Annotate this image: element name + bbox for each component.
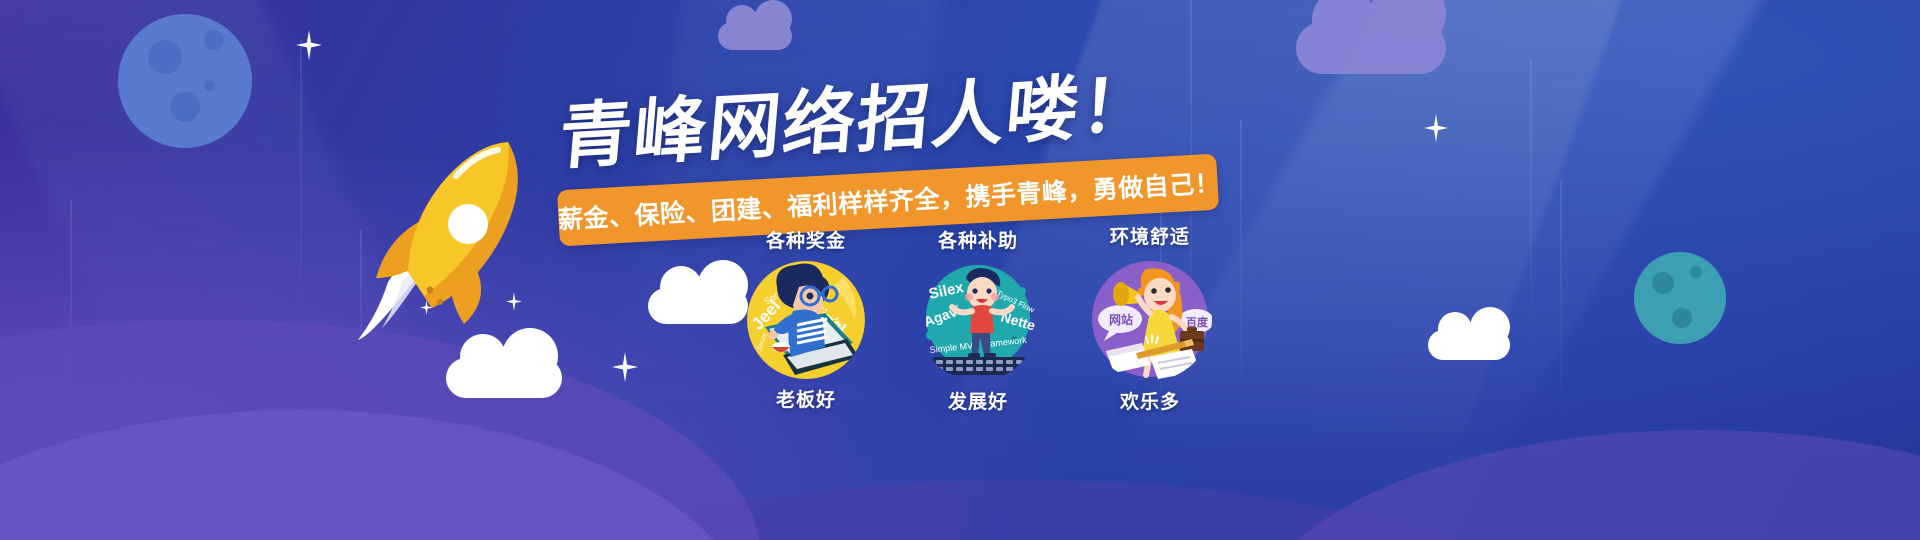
feature-caption-top: 环境舒适 (1060, 222, 1240, 249)
moon-teal-icon (1634, 252, 1726, 344)
crater (1652, 272, 1674, 294)
developer-on-keyboard-illustration: Silex Typo3 Flow Agavi Nette Simple MVC … (918, 261, 1038, 381)
recruitment-banner: 青峰网络招人喽！ 薪金、保险、团建、福利样样齐全，携手青峰，勇做自己！ 各种奖金… (0, 0, 1920, 540)
feature-caption-bottom: 老板好 (716, 385, 896, 412)
crater (148, 40, 182, 74)
hill-right (1250, 430, 1920, 540)
svg-text:百度: 百度 (1186, 315, 1209, 329)
sparkle-star-icon (1424, 114, 1448, 142)
light-streak (1560, 180, 1562, 420)
hill-front (0, 410, 750, 540)
developer-at-laptop-illustration: Spring Jeel Final Hibernate Struts (747, 261, 865, 379)
crater (204, 80, 215, 91)
girl-with-megaphone-illustration: 网站 百度 (1088, 257, 1212, 381)
feature-item-1: 各种奖金 Spring Jeel Final Hibernate Struts (716, 226, 896, 412)
crater (204, 30, 224, 50)
cloud-white-icon (1428, 330, 1510, 360)
hill-back (420, 480, 1620, 540)
crater (170, 92, 200, 122)
sparkle-star-icon (612, 352, 638, 382)
light-streak (70, 200, 72, 460)
feature-caption-top: 各种补助 (888, 226, 1068, 253)
cloud-purple-icon (1296, 22, 1446, 74)
crater (1672, 308, 1692, 328)
cloud-white-icon (446, 358, 562, 398)
light-streak (1240, 120, 1242, 420)
feature-item-2: 各种补助 Silex Typo3 Flow Agavi Nette Simple… (888, 226, 1068, 414)
feature-caption-bottom: 欢乐多 (1060, 387, 1240, 414)
hill-left (0, 320, 760, 540)
feature-caption-top: 各种奖金 (716, 226, 896, 253)
moon-blue-icon (118, 14, 252, 148)
cloud-lavender-icon (718, 22, 792, 50)
rocket-icon (352, 132, 552, 342)
svg-text:网站: 网站 (1109, 312, 1133, 327)
light-streak (1530, 60, 1532, 360)
feature-item-3: 环境舒适 网站 百度 (1060, 222, 1240, 414)
feature-caption-bottom: 发展好 (888, 387, 1068, 414)
light-streak (300, 40, 302, 340)
crater (1690, 266, 1702, 278)
